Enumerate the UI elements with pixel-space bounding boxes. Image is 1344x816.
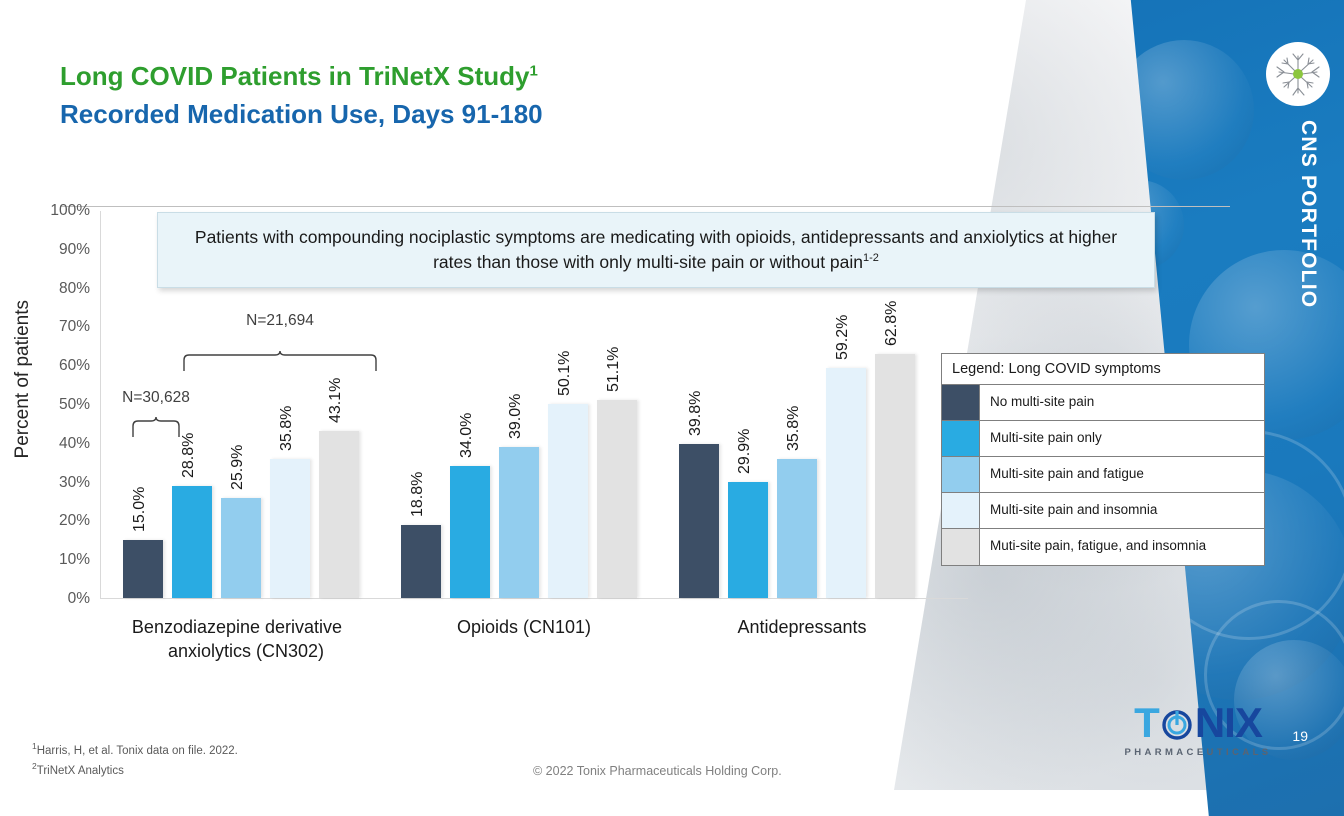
neuron-icon [1266, 42, 1330, 106]
category-label-line-1: Benzodiazepine derivative [111, 615, 363, 639]
y-axis-tick: 80% [59, 280, 90, 298]
y-axis-tick: 30% [59, 474, 90, 492]
bar [826, 368, 866, 598]
bar [679, 444, 719, 598]
legend-rows: No multi-site painMulti-site pain onlyMu… [942, 385, 1264, 565]
bar-value-label: 39.0% [507, 393, 525, 438]
bar-value-label: 51.1% [605, 346, 623, 391]
bar-slot: 34.0% [450, 211, 490, 598]
legend-swatch [942, 385, 980, 420]
bar-value-label: 15.0% [131, 486, 149, 531]
bar-value-label: 59.2% [834, 315, 852, 360]
y-axis-tick: 90% [59, 241, 90, 259]
category-label-line-2: anxiolytics (CN302) [111, 639, 381, 663]
bar-slot: 39.8% [679, 211, 719, 598]
bar [319, 431, 359, 598]
cns-portfolio-label: CNS PORTFOLIO [1296, 120, 1320, 308]
decorative-bubble [1114, 40, 1254, 180]
bar-value-label: 18.8% [409, 472, 427, 517]
bar-value-label: 25.9% [229, 444, 247, 489]
y-axis-tick: 40% [59, 435, 90, 453]
bar-slot: 18.8% [401, 211, 441, 598]
legend-swatch [942, 421, 980, 456]
footnote-2: 2TriNetX Analytics [32, 760, 238, 780]
bar-value-label: 62.8% [883, 301, 901, 346]
bar-chart: Percent of patients 100%90%80%70%60%50%4… [0, 0, 1000, 700]
category-label-line-1: Antidepressants [667, 615, 937, 639]
footnote-1: 1Harris, H, et al. Tonix data on file. 2… [32, 740, 238, 760]
bar [123, 540, 163, 598]
legend-item: Multi-site pain and insomnia [942, 493, 1264, 529]
bar-value-label: 35.8% [278, 406, 296, 451]
bar [597, 400, 637, 598]
tonix-wordmark: T NIX [1118, 702, 1278, 744]
y-axis-tick: 20% [59, 512, 90, 530]
y-axis-tick: 50% [59, 396, 90, 414]
sample-size-brace [182, 351, 378, 373]
bar-slot: 62.8% [875, 211, 915, 598]
bar-group: 18.8%34.0%39.0%50.1%51.1% [401, 211, 637, 598]
legend-label: Muti-site pain, fatigue, and insomnia [980, 529, 1264, 565]
bar-value-label: 34.0% [458, 413, 476, 458]
logo-letters-nix: NIX [1195, 702, 1262, 744]
bar-slot: 35.8% [270, 211, 310, 598]
x-axis-category-label: Antidepressants [667, 615, 937, 639]
legend-swatch [942, 529, 980, 565]
logo-letter-t: T [1134, 702, 1159, 744]
sample-size-brace [131, 417, 181, 439]
legend-title: Legend: Long COVID symptoms [942, 354, 1264, 385]
bar-slot: 39.0% [499, 211, 539, 598]
bar [499, 447, 539, 598]
bar-slot: 29.9% [728, 211, 768, 598]
chart-legend: Legend: Long COVID symptoms No multi-sit… [941, 353, 1265, 566]
footnote-1-text: Harris, H, et al. Tonix data on file. 20… [37, 745, 238, 757]
y-axis-title: Percent of patients [12, 300, 34, 458]
bar-value-label: 28.8% [180, 433, 198, 478]
bar [777, 459, 817, 598]
bar-slot: 51.1% [597, 211, 637, 598]
footnote-2-text: TriNetX Analytics [37, 765, 124, 777]
legend-item: No multi-site pain [942, 385, 1264, 421]
bar [401, 525, 441, 598]
bar [172, 486, 212, 598]
bar [221, 498, 261, 598]
legend-item: Multi-site pain and fatigue [942, 457, 1264, 493]
legend-label: Multi-site pain and insomnia [980, 493, 1264, 528]
x-axis-category-label: Opioids (CN101) [389, 615, 659, 639]
bar-value-label: 35.8% [785, 406, 803, 451]
bar-value-label: 50.1% [556, 350, 574, 395]
bar-value-label: 43.1% [327, 377, 345, 422]
bar-group: 39.8%29.9%35.8%59.2%62.8% [679, 211, 915, 598]
bar [450, 466, 490, 598]
y-axis-tick: 10% [59, 551, 90, 569]
plot-area: 15.0%28.8%25.9%35.8%43.1%Benzodiazepine … [100, 211, 968, 599]
y-axis-ticks: 100%90%80%70%60%50%40%30%20%10%0% [34, 211, 96, 599]
logo-subtitle: PHARMACEUTICALS [1118, 747, 1278, 758]
legend-swatch [942, 493, 980, 528]
bar-slot: 50.1% [548, 211, 588, 598]
bar-slot: 25.9% [221, 211, 261, 598]
bar-value-label: 29.9% [736, 429, 754, 474]
bar [875, 354, 915, 598]
copyright-notice: © 2022 Tonix Pharmaceuticals Holding Cor… [533, 764, 782, 778]
footnotes: 1Harris, H, et al. Tonix data on file. 2… [32, 740, 238, 780]
bar-slot: 59.2% [826, 211, 866, 598]
y-axis-tick: 60% [59, 357, 90, 375]
legend-item: Multi-site pain only [942, 421, 1264, 457]
category-label-line-1: Opioids (CN101) [389, 615, 659, 639]
sample-size-label: N=30,628 [122, 389, 190, 407]
tonix-logo: T NIX PHARMACEUTICALS [1118, 702, 1278, 758]
y-axis-tick: 70% [59, 318, 90, 336]
bar-value-label: 39.8% [687, 390, 705, 435]
bar [548, 404, 588, 598]
bar-slot: 43.1% [319, 211, 359, 598]
x-axis-category-label: Benzodiazepine derivativeanxiolytics (CN… [111, 615, 381, 664]
legend-label: Multi-site pain and fatigue [980, 457, 1264, 492]
legend-label: Multi-site pain only [980, 421, 1264, 456]
power-symbol-icon [1160, 706, 1194, 740]
bar-slot: 35.8% [777, 211, 817, 598]
y-axis-tick: 100% [50, 202, 90, 220]
page-number: 19 [1292, 728, 1308, 744]
legend-label: No multi-site pain [980, 385, 1264, 420]
sample-size-label: N=21,694 [246, 312, 314, 330]
bar [728, 482, 768, 598]
legend-item: Muti-site pain, fatigue, and insomnia [942, 529, 1264, 565]
y-axis-tick: 0% [68, 590, 90, 608]
bar [270, 459, 310, 598]
legend-swatch [942, 457, 980, 492]
